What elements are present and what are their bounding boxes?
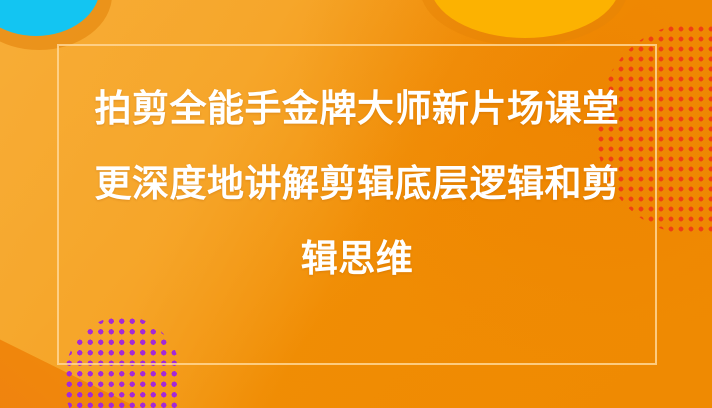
page-title-line-1: 拍剪全能手金牌大师新片场课堂	[95, 90, 620, 127]
page-title-line-2: 更深度地讲解剪辑底层逻辑和剪	[95, 165, 620, 202]
course-cover-poster: 拍剪全能手金牌大师新片场课堂 更深度地讲解剪辑底层逻辑和剪 辑思维	[0, 0, 712, 408]
poster-title-block: 拍剪全能手金牌大师新片场课堂 更深度地讲解剪辑底层逻辑和剪 辑思维	[57, 44, 657, 365]
page-title-line-3: 辑思维	[301, 240, 414, 277]
